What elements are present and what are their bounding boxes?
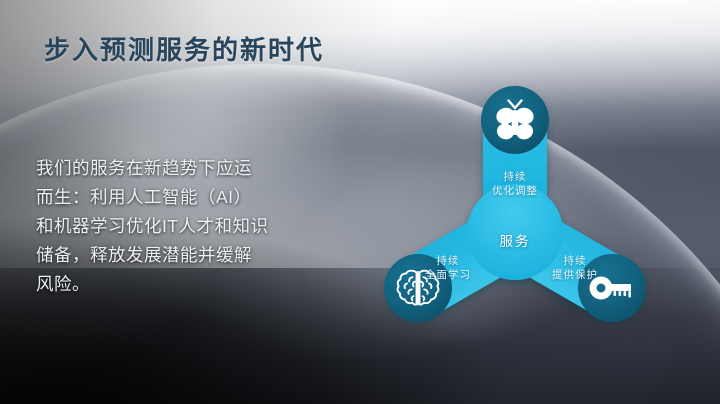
service-triskelion-diagram: 持续 优化调整 持续 全面学习 持续 提供保护 服务 bbox=[355, 72, 675, 372]
slide-title: 步入预测服务的新时代 bbox=[44, 30, 324, 67]
body-line: 风险。 bbox=[36, 270, 336, 299]
node-protect[interactable] bbox=[578, 254, 646, 322]
diagram-svg bbox=[355, 72, 675, 372]
slide-canvas: 步入预测服务的新时代 我们的服务在新趋势下应运 而生：利用人工智能（AI） 和机… bbox=[0, 0, 720, 404]
node-optimize[interactable] bbox=[481, 86, 549, 154]
diagram-hub bbox=[467, 184, 563, 280]
node-learn[interactable] bbox=[384, 254, 452, 322]
body-line: 而生：利用人工智能（AI） bbox=[36, 183, 336, 212]
body-line: 我们的服务在新趋势下应运 bbox=[36, 154, 336, 183]
slide-body-text: 我们的服务在新趋势下应运 而生：利用人工智能（AI） 和机器学习优化IT人才和知… bbox=[36, 154, 336, 299]
body-line: 储备，释放发展潜能并缓解 bbox=[36, 241, 336, 270]
body-line: 和机器学习优化IT人才和知识 bbox=[36, 212, 336, 241]
